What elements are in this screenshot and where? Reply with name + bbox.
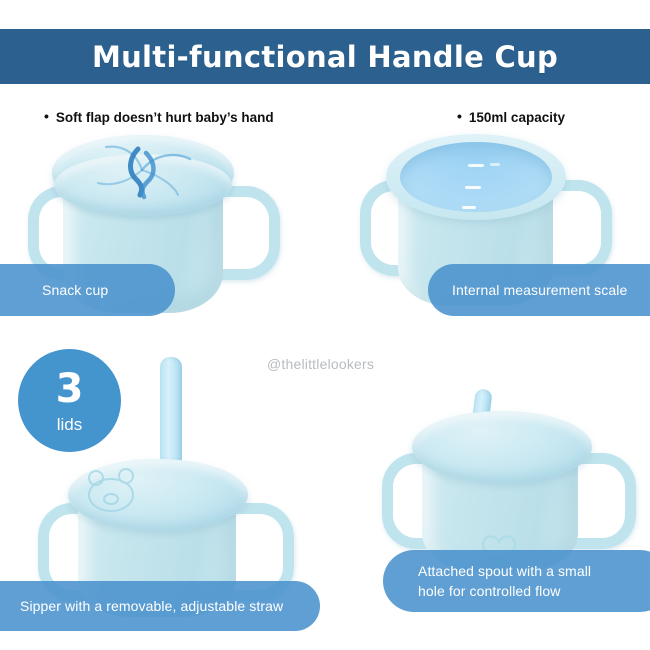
pinwheel-flap-icon [78,139,208,201]
page-title: Multi-functional Handle Cup [92,40,558,74]
measurement-tick [462,206,476,209]
measurement-tick [490,163,500,166]
caption-text-line1: Attached spout with a small [418,561,591,581]
caption-text: Internal measurement scale [452,280,627,300]
caption-snack-cup: Snack cup [0,264,175,316]
product-photo-spout-cup: Attached spout with a small hole for con… [360,395,650,625]
caption-text-line2: hole for controlled flow [418,581,560,601]
badge-number: 3 [56,369,84,409]
spout-lid [412,411,592,483]
badge-label: lids [57,416,83,433]
caption-measurement-scale: Internal measurement scale [428,264,650,316]
product-photo-snack-cup: Snack cup [10,128,315,318]
bullet-marker-icon: • [44,108,49,124]
caption-text: Sipper with a removable, adjustable stra… [20,596,283,616]
feature-bullet-text: Soft flap doesn’t hurt baby’s hand [56,110,274,125]
caption-attached-spout: Attached spout with a small hole for con… [383,550,650,612]
watermark-handle: @thelittlelookers [267,356,374,372]
badge-lid-count: 3 lids [18,349,121,452]
bear-face-emboss-icon [82,467,148,515]
feature-bullet-soft-flap: •Soft flap doesn’t hurt baby’s hand [44,108,274,125]
caption-sipper-straw: Sipper with a removable, adjustable stra… [0,581,320,631]
caption-text: Snack cup [42,280,108,300]
measurement-tick [465,186,481,189]
product-photo-open-cup: Internal measurement scale [350,120,650,318]
cup-interior [400,142,552,212]
infographic-canvas: Multi-functional Handle Cup •Soft flap d… [0,0,650,650]
title-banner: Multi-functional Handle Cup [0,29,650,84]
measurement-tick [468,164,484,167]
